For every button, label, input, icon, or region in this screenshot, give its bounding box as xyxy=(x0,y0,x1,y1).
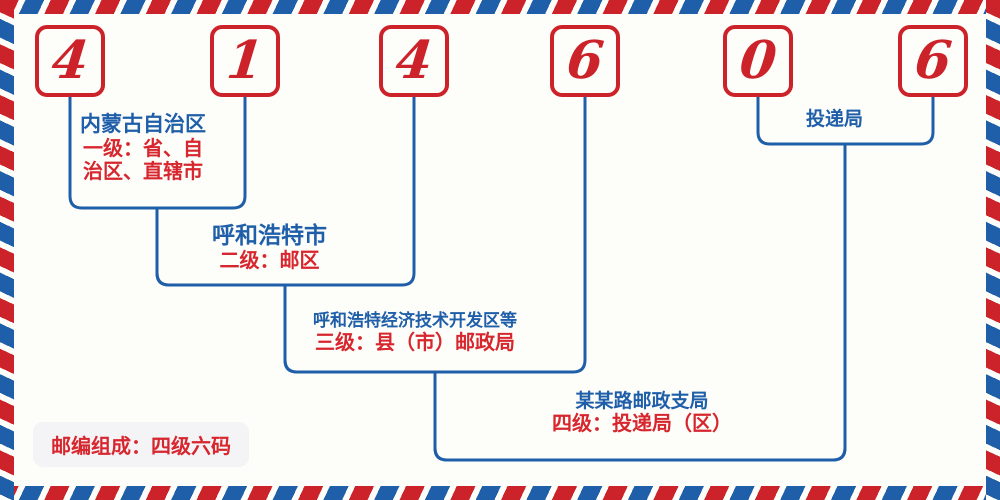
level-1-level-line1: 一级：省、自 xyxy=(80,137,206,161)
digit-value-2: 1 xyxy=(224,35,266,87)
level-3-level: 三级：县（市）邮政局 xyxy=(313,331,517,355)
caption-text: 邮编组成：四级六码 xyxy=(51,434,231,458)
airmail-border-left xyxy=(0,0,14,500)
digit-value-1: 4 xyxy=(49,35,91,87)
airmail-border-top xyxy=(0,0,1000,14)
level-4-level: 四级：投递局（区） xyxy=(552,412,732,436)
digit-value-5: 0 xyxy=(737,35,779,87)
digit-value-6: 6 xyxy=(912,35,954,87)
level-2-level: 二级：邮区 xyxy=(212,249,327,273)
postcode-diagram-envelope: 4 1 4 6 0 6 内蒙古自治区 一级：省、自 治区、直辖市 呼和浩特市 二… xyxy=(0,0,1000,500)
level-2-label-group: 呼和浩特市 二级：邮区 xyxy=(212,222,327,273)
digit-value-4: 6 xyxy=(564,35,606,87)
level-2-name: 呼和浩特市 xyxy=(212,222,327,249)
delivery-office-label-group: 投递局 xyxy=(806,108,863,130)
delivery-office-label: 投递局 xyxy=(806,108,863,130)
level-4-name: 某某路邮政支局 xyxy=(552,390,732,412)
airmail-border-right xyxy=(986,0,1000,500)
envelope-paper xyxy=(14,14,986,486)
level-1-name: 内蒙古自治区 xyxy=(80,112,206,137)
level-4-label-group: 某某路邮政支局 四级：投递局（区） xyxy=(552,390,732,436)
digit-box-6[interactable]: 6 xyxy=(898,25,968,97)
airmail-border-bottom xyxy=(0,486,1000,500)
digit-value-3: 4 xyxy=(393,35,435,87)
digit-box-5[interactable]: 0 xyxy=(723,25,793,97)
level-3-name: 呼和浩特经济技术开发区等 xyxy=(313,311,517,331)
level-1-label-group: 内蒙古自治区 一级：省、自 治区、直辖市 xyxy=(80,112,206,184)
level-3-label-group: 呼和浩特经济技术开发区等 三级：县（市）邮政局 xyxy=(313,311,517,355)
digit-box-1[interactable]: 4 xyxy=(35,25,105,97)
digit-box-2[interactable]: 1 xyxy=(210,25,280,97)
digit-box-4[interactable]: 6 xyxy=(550,25,620,97)
digit-box-3[interactable]: 4 xyxy=(379,25,449,97)
caption-pill: 邮编组成：四级六码 xyxy=(33,422,249,467)
level-1-level-line2: 治区、直辖市 xyxy=(80,160,206,184)
